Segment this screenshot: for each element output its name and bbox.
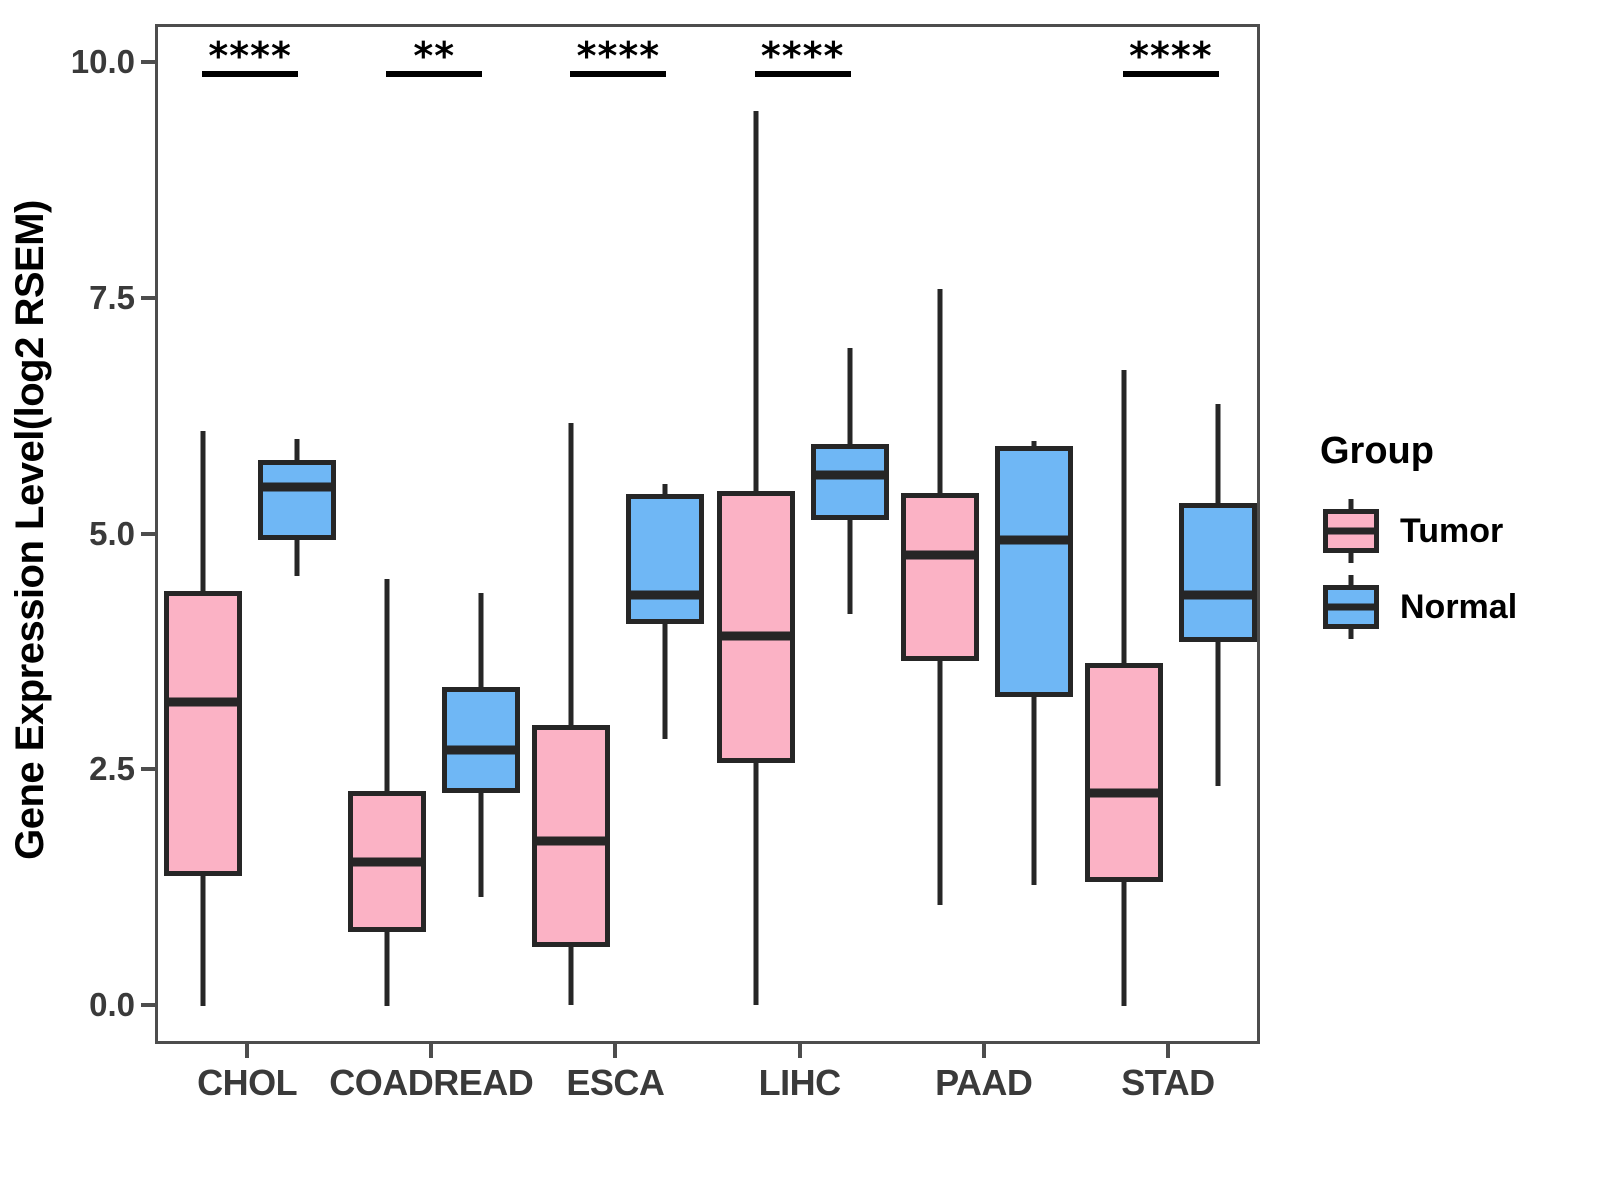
significance-annotation-stad: **** bbox=[158, 27, 1257, 1041]
x-axis-tick-labels: CHOLCOADREADESCALIHCPAADSTAD bbox=[155, 1062, 1260, 1122]
y-axis-tick-mark bbox=[141, 532, 155, 536]
x-axis-tick-marks bbox=[155, 1044, 1260, 1060]
significance-stars: **** bbox=[1129, 37, 1213, 75]
x-axis-tick-label: PAAD bbox=[935, 1062, 1032, 1104]
x-axis-tick-mark bbox=[1166, 1044, 1170, 1058]
y-axis-tick-mark bbox=[141, 767, 155, 771]
y-axis-tick-label: 10.0 bbox=[25, 43, 135, 81]
legend: Group TumorNormal bbox=[1320, 430, 1580, 647]
plot-area: ****************** bbox=[158, 27, 1257, 1041]
x-axis-tick-label: CHOL bbox=[197, 1062, 297, 1104]
legend-label: Normal bbox=[1400, 588, 1517, 627]
x-axis-tick-mark bbox=[798, 1044, 802, 1058]
x-axis-tick-label: COADREAD bbox=[329, 1062, 533, 1104]
y-axis-tick-mark bbox=[141, 1003, 155, 1007]
y-axis-tick-label: 7.5 bbox=[25, 279, 135, 317]
legend-entries: TumorNormal bbox=[1320, 495, 1580, 643]
y-axis-tick-mark bbox=[141, 60, 155, 64]
legend-title: Group bbox=[1320, 430, 1580, 473]
legend-item-normal[interactable]: Normal bbox=[1320, 571, 1580, 643]
legend-label: Tumor bbox=[1400, 512, 1503, 551]
x-axis-tick-mark bbox=[982, 1044, 986, 1058]
y-axis-tick-mark bbox=[141, 296, 155, 300]
x-axis-tick-label: LIHC bbox=[759, 1062, 841, 1104]
y-axis-tick-label: 0.0 bbox=[25, 986, 135, 1024]
plot-panel: ****************** bbox=[155, 24, 1260, 1044]
legend-key-median bbox=[1323, 528, 1379, 535]
x-axis-tick-mark bbox=[613, 1044, 617, 1058]
y-axis-tick-label: 2.5 bbox=[25, 750, 135, 788]
legend-key-normal-icon bbox=[1320, 571, 1382, 643]
legend-item-tumor[interactable]: Tumor bbox=[1320, 495, 1580, 567]
x-axis-tick-label: STAD bbox=[1121, 1062, 1214, 1104]
legend-key-tumor-icon bbox=[1320, 495, 1382, 567]
x-axis-tick-mark bbox=[245, 1044, 249, 1058]
boxplot-figure: Gene Expression Level(log2 RSEM) 0.02.55… bbox=[0, 0, 1600, 1200]
legend-key-median bbox=[1323, 604, 1379, 611]
x-axis-tick-mark bbox=[429, 1044, 433, 1058]
x-axis-tick-label: ESCA bbox=[566, 1062, 664, 1104]
y-axis-tick-labels: 0.02.55.07.510.0 bbox=[20, 0, 135, 1200]
y-axis-tick-label: 5.0 bbox=[25, 515, 135, 553]
